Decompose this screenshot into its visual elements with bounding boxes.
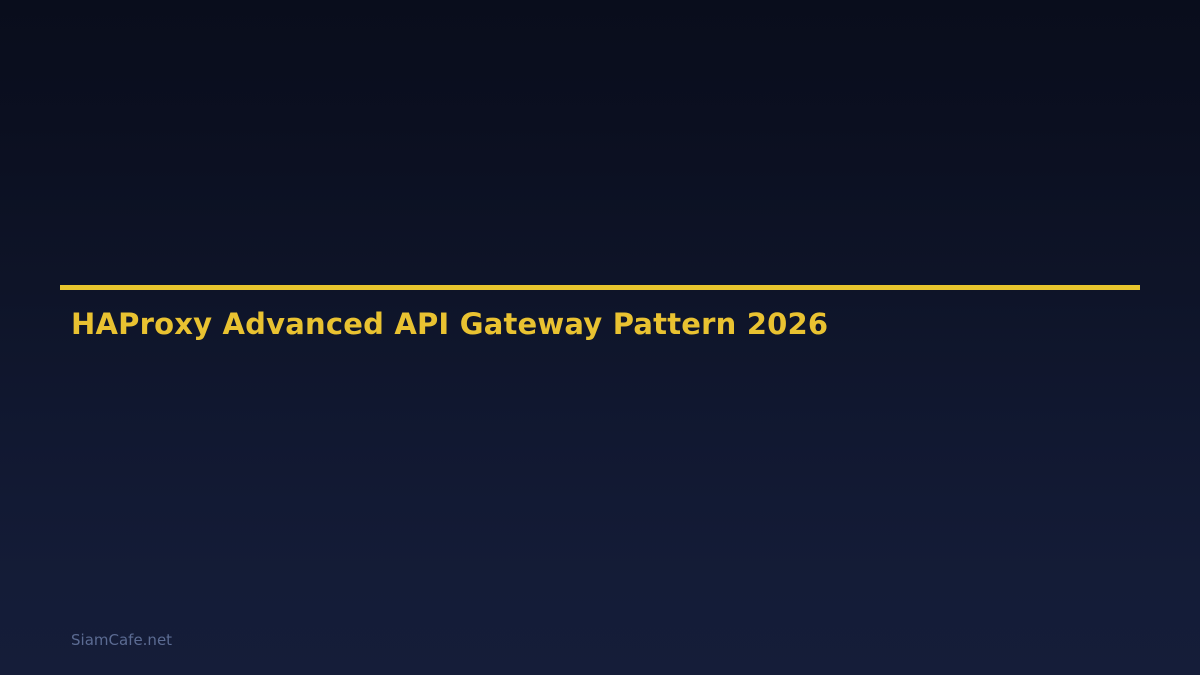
footer-attribution: SiamCafe.net xyxy=(71,630,172,650)
title-slide: HAProxy Advanced API Gateway Pattern 202… xyxy=(0,0,1200,675)
title-accent-bar xyxy=(60,285,1140,290)
slide-top-spacer xyxy=(0,0,1200,285)
page-title: HAProxy Advanced API Gateway Pattern 202… xyxy=(71,305,1131,343)
slide-body-area xyxy=(0,350,1200,620)
title-block: HAProxy Advanced API Gateway Pattern 202… xyxy=(71,305,1131,343)
footer: SiamCafe.net xyxy=(71,630,172,650)
